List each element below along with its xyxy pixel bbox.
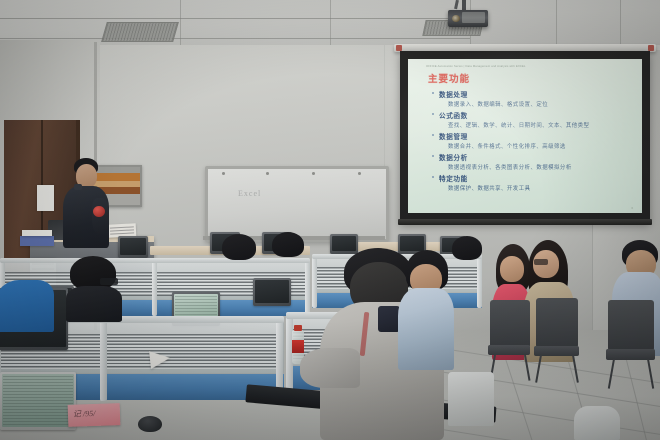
student-torso [66,286,122,322]
student-glasses [64,256,124,322]
slide-bullet: 数据分析 数据透视表分析、各类图表分析、数据模拟分析 [432,152,634,171]
door-notice-paper [37,185,54,211]
ceiling-seam [0,38,470,39]
chair[interactable] [608,300,654,384]
projector [448,10,488,27]
paper-stack [22,230,52,236]
student-far-right [452,236,482,266]
presenter-collar [74,184,82,190]
slide-title: 主要功能 [428,71,634,85]
bottle-label [292,340,304,353]
sticky-note-text: 记 /95/ [73,408,96,420]
classroom-photo: Excel OFFICE Automation Series | Data Ma… [0,0,660,440]
student-hair [222,234,256,260]
projector-lens-icon [452,15,460,22]
bullet-detail: 查找、逻辑、数学、统计、日期时间、文本、其他类型 [448,121,634,129]
binder-stack [20,236,54,246]
slide-bullet-list: 数据处理 数据录入、数据编辑、格式设置、定位 公式函数 查找、逻辑、数学、统计、… [418,89,634,192]
presentation-slide: OFFICE Automation Series | Data Manageme… [408,59,642,213]
bottle-cap [294,325,302,331]
monitor-foreground-on [0,372,76,430]
presenter [60,158,112,248]
ceiling-seam [556,0,557,48]
bullet-heading: 公式函数 [432,110,634,120]
student-torso [398,288,454,370]
bullet-detail: 数据保护、数据共享、开发工具 [448,184,634,192]
ceiling-seam [620,0,621,46]
ceiling-vent [101,22,179,42]
shirt-collar [378,306,400,332]
student-blue-jacket [0,272,58,332]
white-chair[interactable] [574,406,620,440]
student-torso [0,280,54,332]
ceiling-seam [0,18,450,19]
paper-airplane [149,349,171,369]
red-handheld-device [93,206,105,217]
slide-bullet: 公式函数 查找、逻辑、数学、统计、日期时间、文本、其他类型 [432,110,634,129]
bullet-detail: 数据录入、数据编辑、格式设置、定位 [448,100,634,108]
chair[interactable] [490,300,530,378]
monitor [118,236,148,258]
bullet-heading: 数据分析 [432,152,634,162]
whiteboard-faint-text: Excel [238,189,261,198]
bullet-detail: 数据合并、条件格式、个性化排序、高级筛选 [448,142,634,150]
white-chair[interactable] [448,372,494,426]
screen-bottom-bar [398,219,652,225]
student-far-left [222,234,256,268]
bullet-heading: 特定功能 [432,173,634,183]
slide-bullet: 数据管理 数据合并、条件格式、个性化排序、高级筛选 [432,131,634,150]
whiteboard: Excel [205,166,389,242]
student-far-mid [272,232,304,264]
bullet-heading: 数据处理 [432,89,634,99]
slide-bullet: 特定功能 数据保护、数据共享、开发工具 [432,173,634,192]
student-light-blue-blouse [398,250,456,370]
student-head [500,256,524,282]
student-hair [452,236,482,260]
sticky-note: 记 /95/ [68,403,121,427]
student-arm [300,348,360,388]
glasses-icon [100,278,118,285]
slide-bullet: 数据处理 数据录入、数据编辑、格式设置、定位 [432,89,634,108]
bullet-heading: 数据管理 [432,131,634,141]
projection-screen: OFFICE Automation Series | Data Manageme… [400,51,650,223]
slide-header: OFFICE Automation Series | Data Manageme… [426,65,636,68]
chair[interactable] [536,298,578,380]
slide-page-number: 6 [631,206,633,210]
glasses-icon [534,259,548,265]
monitor [253,278,291,306]
bullet-detail: 数据透视表分析、各类图表分析、数据模拟分析 [448,163,634,171]
mouse[interactable] [138,416,162,432]
student-hair [272,232,304,257]
projector-body [462,12,485,23]
